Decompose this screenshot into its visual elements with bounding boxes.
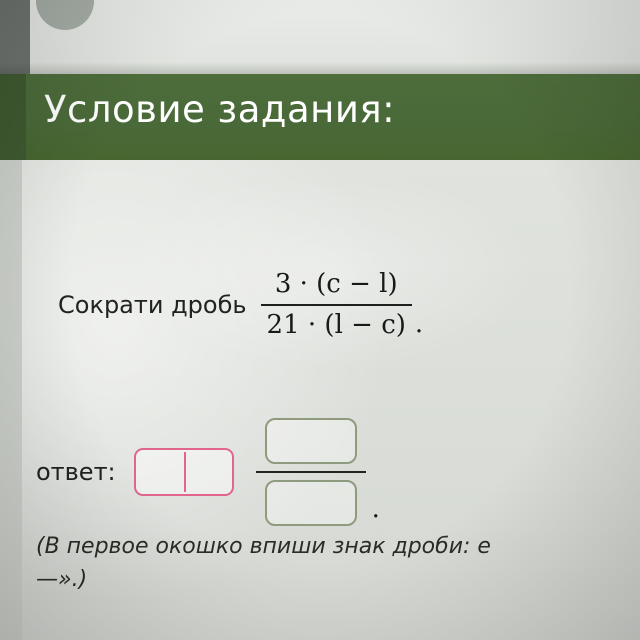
page-header-band: Условие задания: [0,74,640,160]
task-period: . [415,309,423,339]
answer-denominator-input[interactable] [265,480,357,526]
answer-row: ответ: . [36,418,380,526]
task-fraction-bar [261,304,412,306]
answer-fraction-bar [256,471,366,473]
answer-fraction [256,418,366,526]
content-left-edge [0,160,22,640]
task-fraction: 3 · (c − l) 21 · (l − c) [261,268,412,341]
avatar-circle [36,0,94,30]
screenshot-root: Условие задания: Сократи дробь 3 · (c − … [0,0,640,640]
answer-numerator-input[interactable] [265,418,357,464]
hint-text: (В первое окошко впиши знак дроби: е —».… [36,530,636,596]
top-strip [0,0,640,74]
answer-label: ответ: [36,458,116,486]
task-fraction-denominator: 21 · (l − c) [261,309,412,342]
task-fraction-numerator: 3 · (c − l) [269,268,404,301]
answer-period: . [372,494,380,524]
task-statement: Сократи дробь 3 · (c − l) 21 · (l − c) . [58,268,423,341]
task-content-area: Сократи дробь 3 · (c − l) 21 · (l − c) .… [0,160,640,640]
header-band-left-edge [0,74,26,160]
answer-sign-input[interactable] [134,448,234,496]
task-label: Сократи дробь [58,291,247,319]
page-title: Условие задания: [44,88,395,131]
sign-box-divider [184,452,186,492]
hint-line-2: —».) [36,563,636,596]
hint-line-1: (В первое окошко впиши знак дроби: е [36,534,491,559]
